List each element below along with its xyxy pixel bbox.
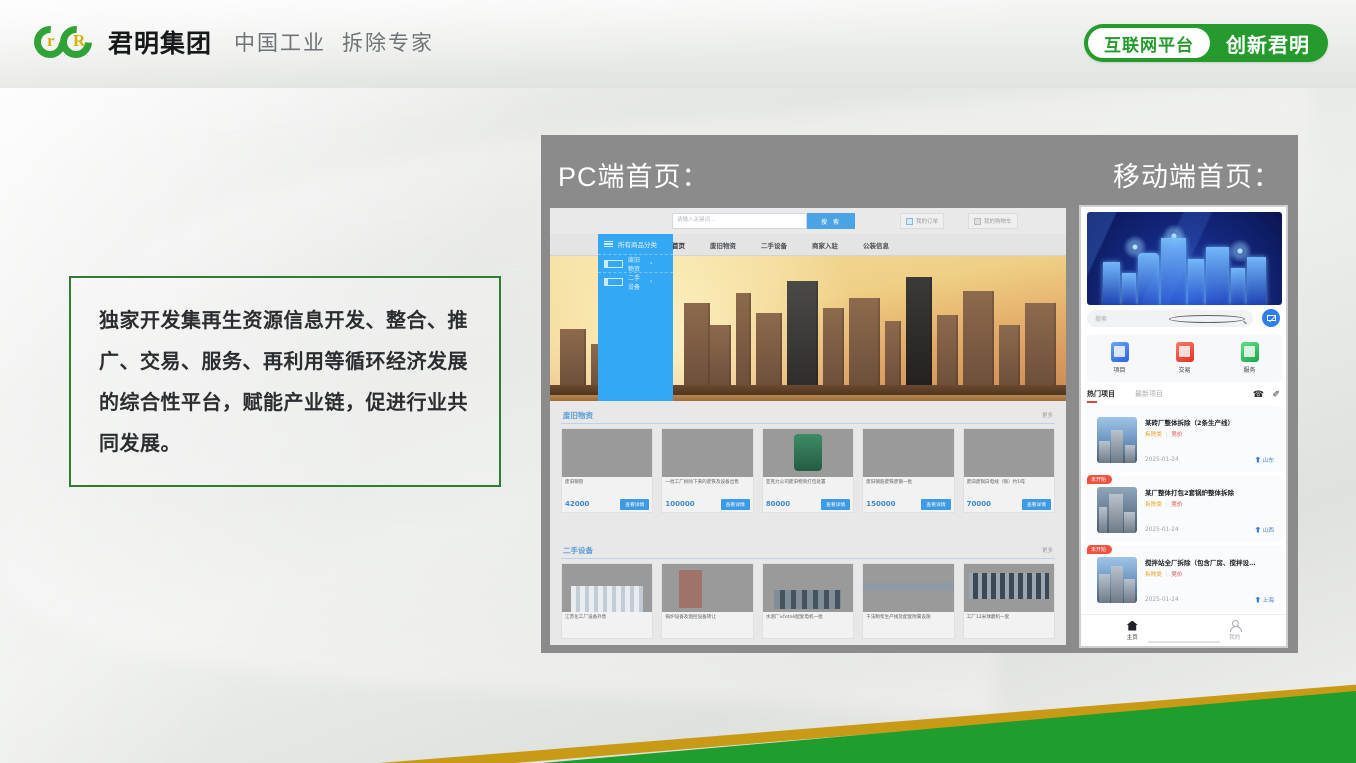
mobile-home-indicator [1148, 641, 1220, 643]
brand-subtitle-1: 中国工业 [234, 27, 326, 57]
product-price: 42000 [565, 500, 589, 508]
product-price: 70000 [967, 500, 991, 508]
pc-product-card[interactable]: 江苏化工厂设备外售 [561, 563, 653, 639]
product-caption: 废旧废铜白电线（铜）约1吨 [964, 477, 1054, 496]
pc-product-card[interactable]: 工厂12米球磨机一套 [963, 563, 1055, 639]
product-thumbnail [562, 564, 652, 612]
project-tag-bid: 竞价 [1171, 502, 1182, 508]
book-icon [604, 260, 623, 268]
pc-product-card[interactable]: 干法制浆生产线及配套附属设施 [862, 563, 954, 639]
product-thumbnail [662, 429, 752, 477]
mobile-bottom-nav-profile-label: 我的 [1229, 633, 1240, 641]
pc-product-card[interactable]: 亚克力公司废旧物资打包处置 80000 查看详情 [762, 428, 854, 513]
pc-category-header[interactable]: 所有商品分类 [598, 234, 673, 254]
project-tags: 拆除类 | 竞价 [1145, 430, 1182, 438]
header-badge-slogan: 创新君明 [1226, 29, 1310, 58]
project-title: 搅拌站全厂拆除（包含厂房、搅拌设… [1145, 557, 1276, 567]
brand-block: r R 君明集团 中国工业 拆除专家 [34, 24, 434, 60]
project-thumbnail [1097, 557, 1137, 603]
product-detail-button[interactable]: 查看详情 [921, 499, 950, 510]
project-location: 上海 [1255, 595, 1274, 604]
cart-icon [974, 218, 981, 225]
mobile-project-item[interactable]: 某砖厂整体拆除（2条生产线） 拆除类 | 竞价 2025-01-24 山东 [1087, 405, 1282, 472]
pc-search-placeholder: 请输入关键词... [677, 215, 715, 223]
panel-title-pc: PC端首页： [558, 155, 710, 194]
product-detail-button[interactable]: 查看详情 [721, 499, 750, 510]
phone-icon[interactable]: ☎ [1253, 390, 1264, 400]
project-thumbnail [1097, 417, 1137, 463]
pc-product-card[interactable]: 一批工厂拆除下来的废铁及设备出售 100000 查看详情 [661, 428, 753, 513]
pc-nav-item-merchant[interactable]: 商家入驻 [812, 240, 838, 250]
product-detail-button[interactable]: 查看详情 [821, 499, 850, 510]
project-title: 某厂整体打包2套锅炉整体拆除 [1145, 487, 1276, 497]
description-card: 独家开发集再生资源信息开发、整合、推广、交易、服务、再利用等循环经济发展的综合性… [69, 276, 501, 487]
product-thumbnail [964, 429, 1054, 477]
page-header: r R 君明集团 中国工业 拆除专家 互联网平台 创新君明 [0, 0, 1356, 88]
project-location: 山西 [1255, 525, 1274, 534]
pc-my-cart-label: 我的购物车 [984, 217, 1012, 225]
pc-nav-item-used[interactable]: 二手设备 [761, 240, 787, 250]
pc-category-item-scrap[interactable]: 废旧物资 › [598, 254, 673, 272]
envelope-icon [1267, 315, 1276, 321]
mobile-quick-entry-trade[interactable]: 交易 [1176, 342, 1194, 374]
pc-nav-list: 首页 废旧物资 二手设备 商家入驻 公装信息 [672, 234, 889, 256]
product-thumbnail [562, 429, 652, 477]
product-thumbnail [964, 564, 1054, 612]
pc-homepage-mockup: 请输入关键词... 搜 索 我的订单 我的购物车 首页 废旧物资 二手设备 商家… [550, 208, 1066, 645]
mobile-search-input[interactable]: 搜索 [1087, 310, 1253, 327]
pc-category-item-used-label: 二手设备 [628, 273, 645, 291]
pc-section-more-scrap[interactable]: 更多 [1042, 411, 1053, 419]
tag-separator: | [1166, 572, 1168, 578]
pc-search-input[interactable]: 请输入关键词... [672, 213, 807, 229]
trade-icon [1176, 342, 1194, 362]
pc-nav-item-home[interactable]: 首页 [672, 240, 685, 250]
location-pin-icon [1255, 527, 1260, 533]
mobile-quick-entry-project-label: 项目 [1113, 365, 1125, 374]
product-footer: 70000 查看详情 [964, 496, 1054, 512]
pc-section-title-scrap: 废旧物资 [563, 410, 593, 421]
product-caption: 废旧钢筋废铁废钢一批 [863, 477, 953, 496]
product-caption: 一批工厂拆除下来的废铁及设备出售 [662, 477, 752, 496]
project-date: 2025-01-24 [1145, 527, 1179, 533]
pc-section-more-used[interactable]: 更多 [1042, 546, 1053, 554]
pc-my-orders-button[interactable]: 我的订单 [900, 213, 944, 229]
product-detail-button[interactable]: 查看详情 [1022, 499, 1051, 510]
project-tags: 拆除类 | 竞价 [1145, 500, 1182, 508]
mobile-quick-entry-trade-label: 交易 [1178, 365, 1190, 374]
product-detail-button[interactable]: 查看详情 [620, 499, 649, 510]
project-tag-bid: 竞价 [1171, 572, 1182, 578]
brand-subtitle-2: 拆除专家 [342, 27, 434, 57]
brand-name: 君明集团 [108, 24, 212, 60]
pc-section-header-scrap: 废旧物资 更多 [561, 408, 1055, 424]
product-thumbnail [662, 564, 752, 612]
product-caption: 水泥厂včetně配套电机一批 [763, 612, 853, 638]
search-icon[interactable] [1169, 315, 1245, 323]
product-footer: 150000 查看详情 [863, 496, 953, 512]
mobile-message-button[interactable] [1262, 309, 1280, 327]
pc-nav-item-notice[interactable]: 公装信息 [863, 240, 889, 250]
pc-product-card[interactable]: 锅炉设备及烟控设备转让 [661, 563, 753, 639]
product-caption: 废旧钢管 [562, 477, 652, 496]
pc-category-item-scrap-label: 废旧物资 [628, 255, 645, 273]
user-icon [1229, 620, 1240, 631]
pc-category-item-used[interactable]: 二手设备 › [598, 272, 673, 290]
company-logo-icon: r R [34, 24, 98, 60]
project-date: 2025-01-24 [1145, 457, 1179, 463]
project-tags: 拆除类 | 竞价 [1145, 570, 1182, 578]
showcase-panel: PC端首页： 移动端首页： 请输入关键词... 搜 索 我的订单 我的购物车 首… [541, 135, 1298, 653]
printer-icon [604, 278, 623, 286]
header-badge-pill: 互联网平台 [1088, 28, 1210, 58]
project-tag-category: 拆除类 [1145, 502, 1162, 508]
mobile-quick-entry-service-label: 服务 [1243, 365, 1255, 374]
header-badge: 互联网平台 创新君明 [1084, 24, 1328, 62]
pc-product-card[interactable]: 水泥厂včetně配套电机一批 [762, 563, 854, 639]
panel-title-mobile: 移动端首页： [1113, 155, 1281, 194]
product-thumbnail [863, 429, 953, 477]
hamburger-icon [604, 241, 613, 248]
product-footer: 100000 查看详情 [662, 496, 752, 512]
mobile-tab-hot[interactable]: 热门项目 [1087, 389, 1115, 399]
project-location-label: 山东 [1262, 455, 1274, 464]
product-price: 150000 [866, 500, 895, 508]
pc-search-button[interactable]: 搜 索 [807, 213, 855, 229]
logo-letter-R: R [73, 31, 85, 51]
product-thumbnail [863, 564, 953, 612]
project-tag-bid: 竞价 [1171, 432, 1182, 438]
decorative-ribbon-green [0, 683, 1356, 763]
project-location-label: 上海 [1262, 595, 1274, 604]
mobile-search-placeholder: 搜索 [1095, 314, 1169, 323]
mobile-tab-indicator [1087, 401, 1097, 403]
mobile-homepage-mockup: 搜索 项目 交易 服务 热门项目 最新项目 ☎ ✐ [1079, 205, 1288, 648]
product-thumbnail [763, 564, 853, 612]
product-caption: 江苏化工厂设备外售 [562, 612, 652, 638]
product-footer: 80000 查看详情 [763, 496, 853, 512]
mobile-project-item[interactable]: 未开始 某厂整体打包2套锅炉整体拆除 拆除类 | 竞价 2025-01-24 山… [1087, 475, 1282, 542]
chevron-right-icon-2: › [650, 278, 667, 285]
tag-separator: | [1166, 502, 1168, 508]
project-location: 山东 [1255, 455, 1274, 464]
description-text: 独家开发集再生资源信息开发、整合、推广、交易、服务、再利用等循环经济发展的综合性… [99, 300, 471, 464]
mobile-bottom-nav: 主页 我的 [1081, 614, 1286, 646]
project-icon [1111, 342, 1129, 362]
product-price: 100000 [665, 500, 694, 508]
mobile-tab-latest[interactable]: 最新项目 [1135, 389, 1163, 399]
project-status-flag: 未开始 [1087, 475, 1112, 484]
mobile-quick-entry-service[interactable]: 服务 [1241, 342, 1259, 374]
project-status-flag: 未开始 [1087, 545, 1112, 554]
product-caption: 亚克力公司废旧物资打包处置 [763, 477, 853, 496]
project-tag-category: 拆除类 [1145, 572, 1162, 578]
project-thumbnail [1097, 487, 1137, 533]
mobile-project-item[interactable]: 未开始 搅拌站全厂拆除（包含厂房、搅拌设… 拆除类 | 竞价 2025-01-2… [1087, 545, 1282, 612]
tag-separator: | [1166, 432, 1168, 438]
order-icon [906, 218, 913, 225]
pc-nav-item-scrap[interactable]: 废旧物资 [710, 240, 736, 250]
product-caption: 工厂12米球磨机一套 [964, 612, 1054, 638]
pc-section-title-used: 二手设备 [563, 545, 593, 556]
pc-my-orders-label: 我的订单 [916, 217, 938, 225]
mobile-hero-banner[interactable] [1087, 212, 1282, 305]
product-caption: 锅炉设备及烟控设备转让 [662, 612, 752, 638]
location-pin-icon [1255, 597, 1260, 603]
mobile-bottom-nav-home-label: 主页 [1127, 633, 1138, 641]
location-pin-icon [1255, 457, 1260, 463]
product-caption: 干法制浆生产线及配套附属设施 [863, 612, 953, 638]
pc-category-panel: 所有商品分类 废旧物资 › 二手设备 › [598, 234, 673, 294]
service-icon [1241, 342, 1259, 362]
product-price: 80000 [766, 500, 790, 508]
pc-top-utility-bar: 请输入关键词... 搜 索 我的订单 我的购物车 [550, 208, 1066, 234]
project-location-label: 山西 [1262, 525, 1274, 534]
project-title: 某砖厂整体拆除（2条生产线） [1145, 417, 1276, 427]
product-footer: 42000 查看详情 [562, 496, 652, 512]
home-icon [1127, 621, 1138, 631]
mobile-tab-bar: 热门项目 最新项目 ☎ ✐ [1087, 389, 1282, 403]
chevron-right-icon: › [650, 260, 667, 267]
mobile-quick-entries: 项目 交易 服务 [1087, 334, 1282, 382]
chat-icon[interactable]: ✐ [1272, 390, 1280, 400]
pc-product-card[interactable]: 废旧废铜白电线（铜）约1吨 70000 查看详情 [963, 428, 1055, 513]
product-thumbnail [763, 429, 853, 477]
pc-category-panel-body [598, 294, 673, 401]
logo-letter-r: r [47, 31, 55, 51]
pc-product-card[interactable]: 废旧钢管 42000 查看详情 [561, 428, 653, 513]
project-tag-category: 拆除类 [1145, 432, 1162, 438]
pc-my-cart-button[interactable]: 我的购物车 [968, 213, 1018, 229]
pc-product-row-scrap: 废旧钢管 42000 查看详情 一批工厂拆除下来的废铁及设备出售 100000 … [561, 428, 1055, 513]
pc-category-header-label: 所有商品分类 [618, 239, 657, 249]
pc-product-row-used: 江苏化工厂设备外售 锅炉设备及烟控设备转让 水泥厂včetně配套电机一批 干法… [561, 563, 1055, 639]
pc-product-card[interactable]: 废旧钢筋废铁废钢一批 150000 查看详情 [862, 428, 954, 513]
project-date: 2025-01-24 [1145, 597, 1179, 603]
mobile-quick-entry-project[interactable]: 项目 [1111, 342, 1129, 374]
pc-section-header-used: 二手设备 更多 [561, 543, 1055, 559]
